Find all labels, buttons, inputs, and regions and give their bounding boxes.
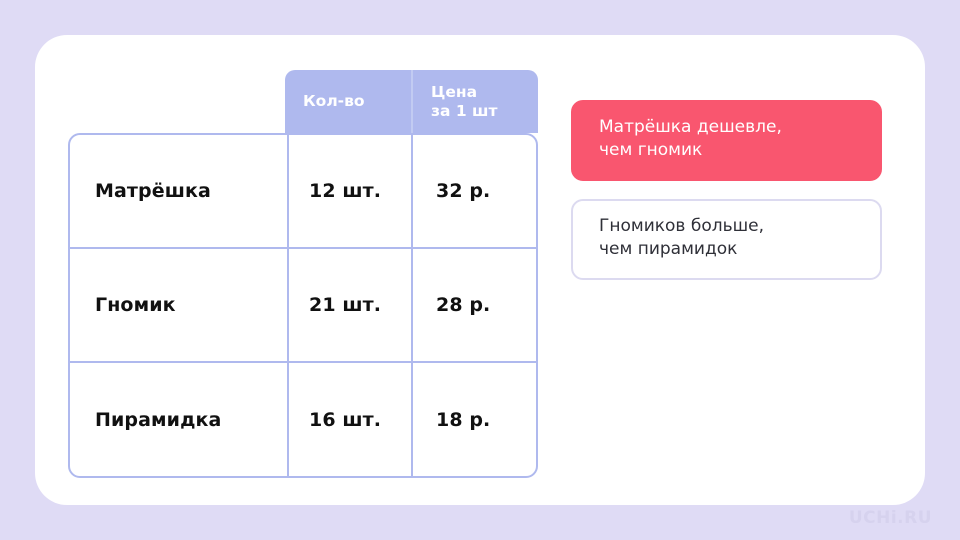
slide-panel: Кол-во Цена за 1 шт Матрёшка 12 шт. 32 р…: [35, 35, 925, 505]
table-header-price: Цена за 1 шт: [411, 70, 538, 133]
table-row: Матрёшка 12 шт. 32 р.: [70, 135, 536, 249]
table-header-price-line1: Цена: [431, 83, 477, 101]
table-header-row: Кол-во Цена за 1 шт: [285, 70, 538, 133]
statement-line2: чем пирамидок: [599, 239, 737, 259]
statement-line1: Матрёшка дешевле,: [599, 117, 782, 137]
table-cell-quantity: 16 шт.: [287, 363, 411, 476]
table-cell-name: Пирамидка: [70, 363, 287, 476]
toys-price-table: Кол-во Цена за 1 шт Матрёшка 12 шт. 32 р…: [68, 70, 573, 478]
table-header-price-label: Цена за 1 шт: [431, 83, 498, 120]
table-cell-price: 28 р.: [411, 249, 536, 361]
statement-line1: Гномиков больше,: [599, 216, 764, 236]
table-cell-name: Гномик: [70, 249, 287, 361]
statement-card[interactable]: Гномиков больше, чем пирамидок: [571, 199, 882, 280]
table-cell-price: 32 р.: [411, 135, 536, 247]
table-body: Матрёшка 12 шт. 32 р. Гномик 21 шт. 28 р…: [68, 133, 538, 478]
table-header-quantity: Кол-во: [285, 70, 411, 133]
table-row: Гномик 21 шт. 28 р.: [70, 249, 536, 363]
uchi-ru-watermark: UCHi.RU: [849, 508, 932, 528]
table-cell-quantity: 21 шт.: [287, 249, 411, 361]
table-cell-price: 18 р.: [411, 363, 536, 476]
statement-line2: чем гномик: [599, 140, 702, 160]
statement-list: Матрёшка дешевле, чем гномик Гномиков бо…: [571, 100, 886, 298]
table-cell-name: Матрёшка: [70, 135, 287, 247]
table-header-price-line2: за 1 шт: [431, 102, 498, 120]
statement-card-selected[interactable]: Матрёшка дешевле, чем гномик: [571, 100, 882, 181]
table-cell-quantity: 12 шт.: [287, 135, 411, 247]
table-header-quantity-label: Кол-во: [303, 92, 365, 110]
table-row: Пирамидка 16 шт. 18 р.: [70, 363, 536, 476]
